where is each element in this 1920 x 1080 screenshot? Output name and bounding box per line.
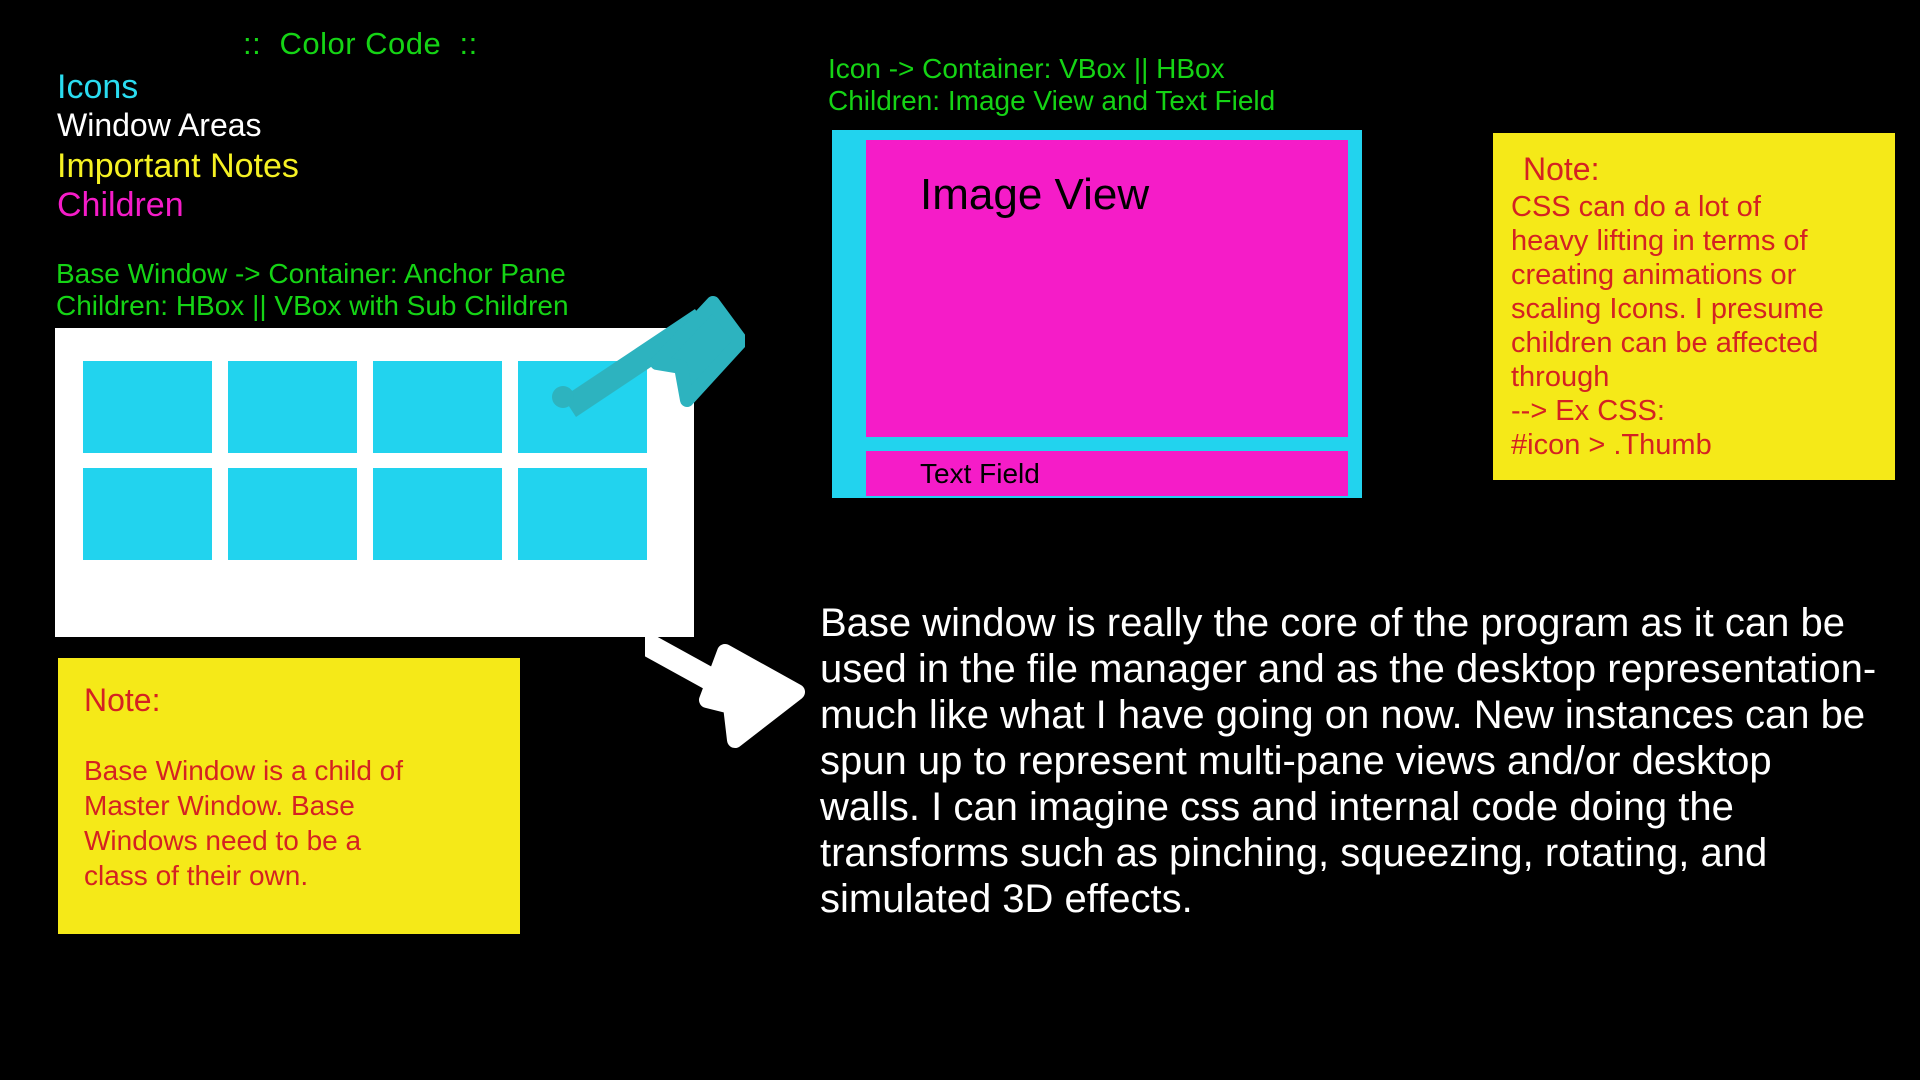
note-css: Note: CSS can do a lot of heavy lifting … bbox=[1493, 133, 1895, 480]
text-field[interactable]: Text Field bbox=[866, 451, 1348, 496]
icon-tile[interactable] bbox=[373, 468, 502, 560]
base-window-panel[interactable] bbox=[55, 328, 694, 637]
icon-tile[interactable] bbox=[518, 361, 647, 453]
icon-tile[interactable] bbox=[518, 468, 647, 560]
text-field-label: Text Field bbox=[920, 458, 1040, 490]
icon-tile[interactable] bbox=[228, 468, 357, 560]
base-window-description: Base window is really the core of the pr… bbox=[820, 600, 1880, 922]
icon-tile[interactable] bbox=[373, 361, 502, 453]
image-view[interactable]: Image View bbox=[866, 140, 1348, 437]
icon-tile-grid bbox=[83, 361, 647, 560]
base-window-annotation: Base Window -> Container: Anchor Pane Ch… bbox=[56, 258, 569, 322]
image-view-label: Image View bbox=[920, 170, 1149, 220]
legend-item-window-areas: Window Areas bbox=[57, 107, 262, 144]
icon-tile[interactable] bbox=[83, 468, 212, 560]
note-css-heading: Note: bbox=[1523, 151, 1879, 188]
icon-tile[interactable] bbox=[228, 361, 357, 453]
note-base-window: Note: Base Window is a child of Master W… bbox=[58, 658, 520, 934]
color-code-title: :: Color Code :: bbox=[243, 26, 478, 62]
diagram-canvas: :: Color Code :: Icons Window Areas Impo… bbox=[0, 0, 1920, 1080]
note-css-body: CSS can do a lot of heavy lifting in ter… bbox=[1511, 190, 1879, 462]
note-base-window-heading: Note: bbox=[84, 682, 494, 719]
note-base-window-body: Base Window is a child of Master Window.… bbox=[84, 753, 494, 893]
legend-item-important-notes: Important Notes bbox=[57, 147, 299, 186]
icon-annotation: Icon -> Container: VBox || HBox Children… bbox=[828, 53, 1275, 117]
icon-container[interactable]: Image View Text Field bbox=[832, 130, 1362, 498]
legend-item-icons: Icons bbox=[57, 68, 138, 107]
legend-item-children: Children bbox=[57, 186, 184, 225]
icon-tile[interactable] bbox=[83, 361, 212, 453]
